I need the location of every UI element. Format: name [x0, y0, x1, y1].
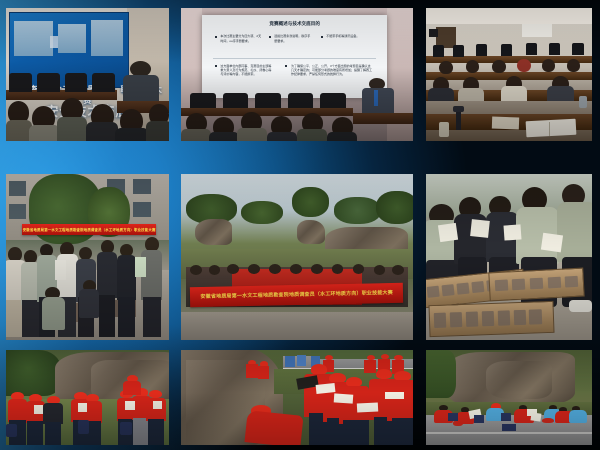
photo-1-safety-briefing[interactable]: 质调查员（水工环地质方向）职业技能大赛 安全技术交底	[6, 8, 169, 141]
photo-3-classroom-exam[interactable]	[426, 8, 592, 141]
photo-6-core-sample-inspection[interactable]	[426, 174, 592, 340]
photo-8-roadside-rock-logging[interactable]	[181, 350, 413, 445]
photo-collage: 质调查员（水工环地质方向）职业技能大赛 安全技术交底	[0, 0, 600, 450]
photo-2-slide-overview[interactable]: 竞赛概述与技术交底目的 本次比赛主要分为四大项、2天时间，он序手册要求。 选拔…	[181, 8, 413, 141]
photo-4-outdoor-briefing[interactable]: 安徽省地质局第一水文工程地质勘查院地质调查员（水工环地质方向）职业技能大赛	[6, 174, 169, 340]
photo-7-field-outcrop-survey[interactable]	[6, 350, 169, 445]
photo-9-roadside-note-taking[interactable]	[426, 350, 592, 445]
photo-5-group-photo[interactable]: 安徽省地质局第一水文工程地质勘查院地质调查员（水工环地质方向）职业技能大赛	[181, 174, 413, 340]
